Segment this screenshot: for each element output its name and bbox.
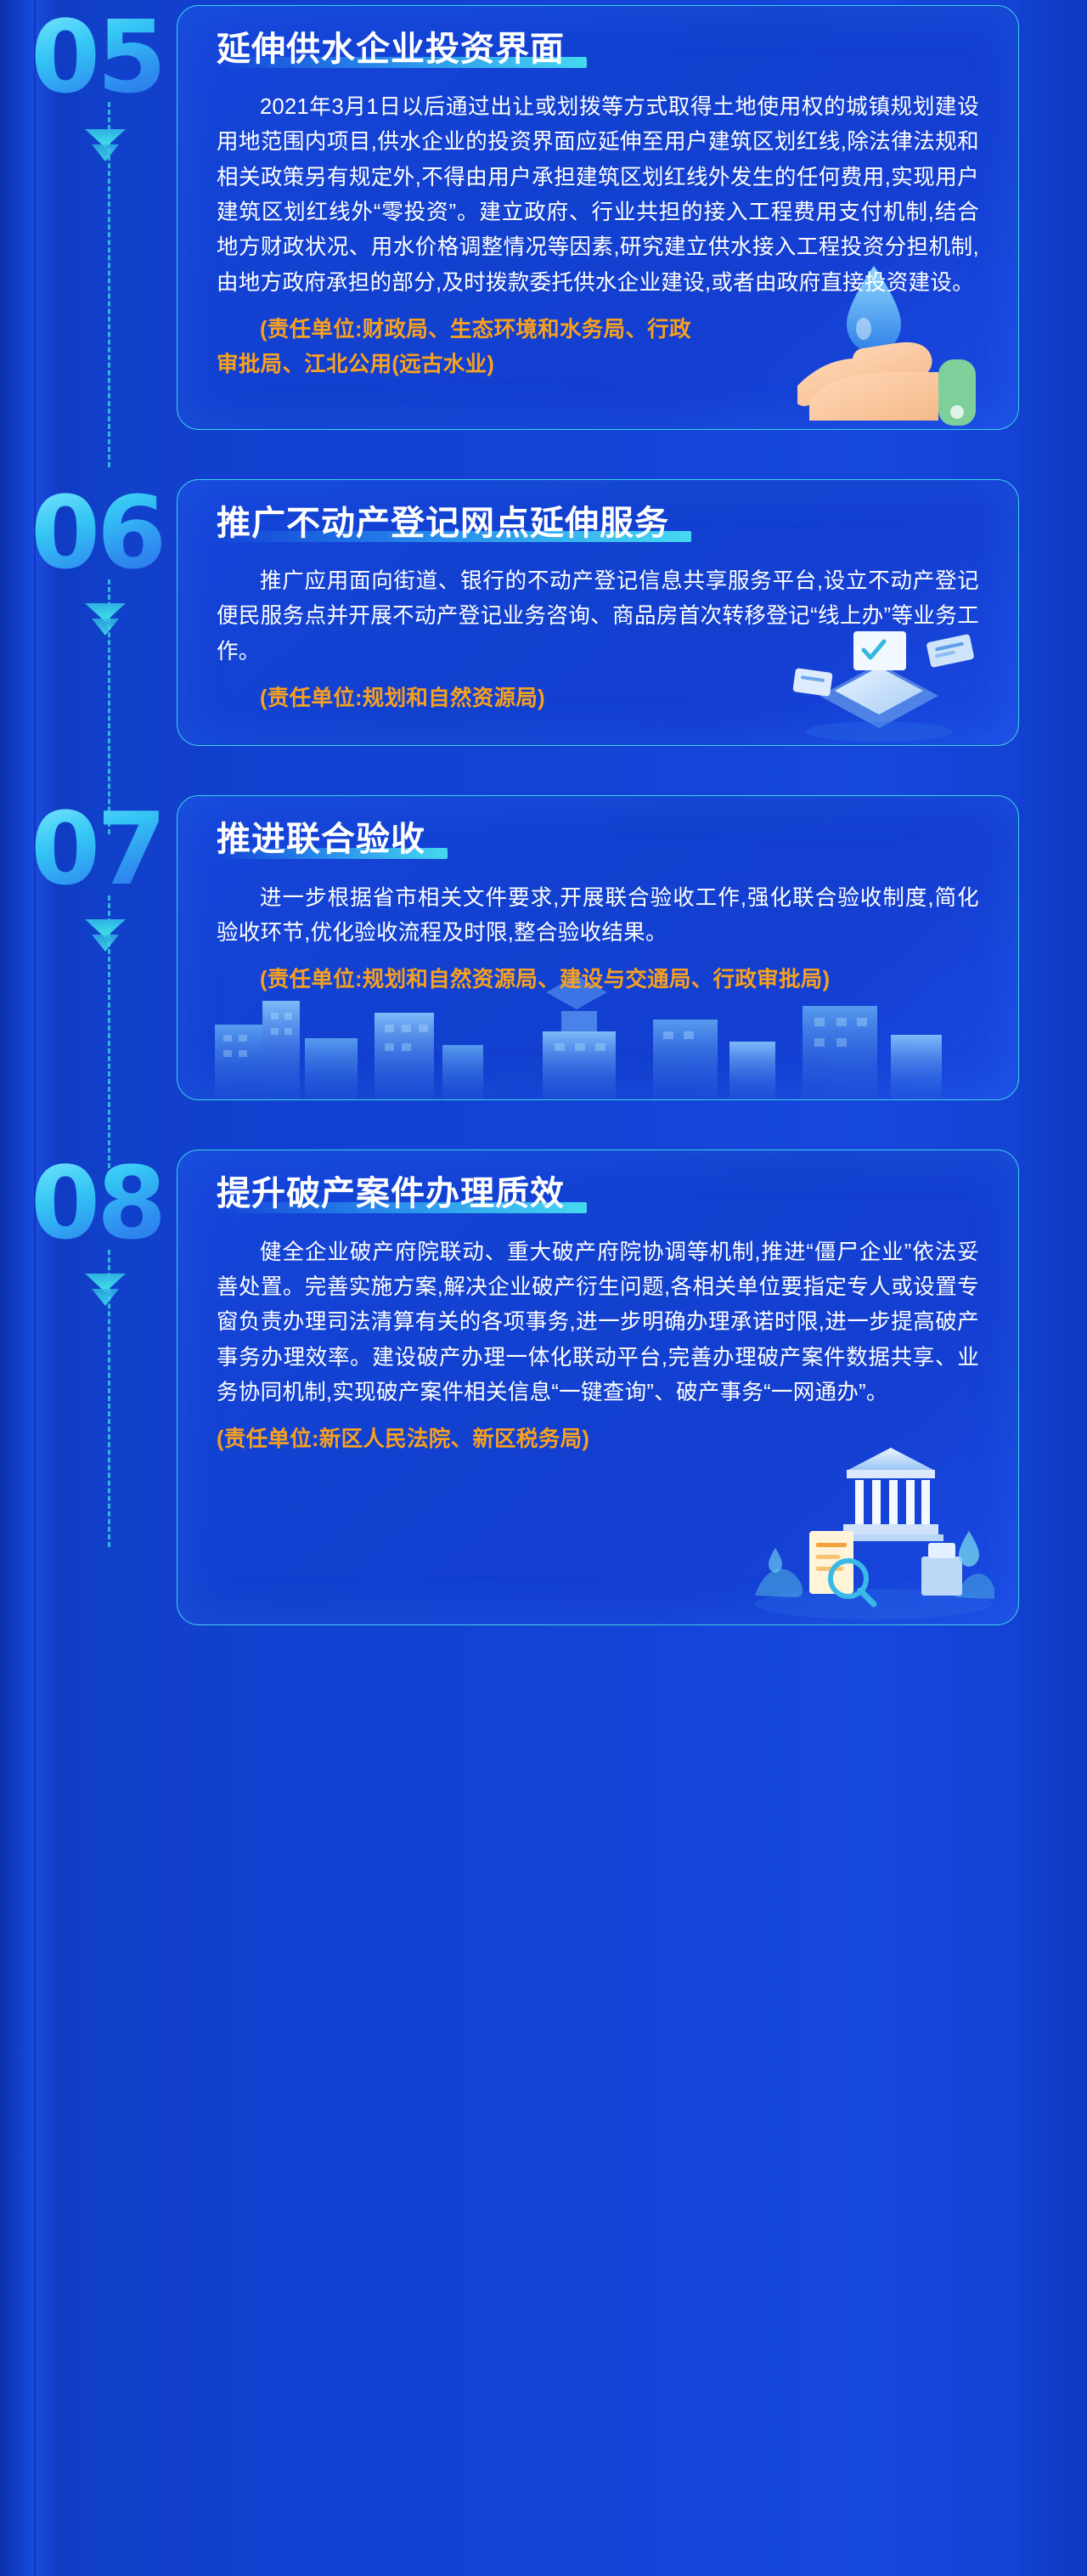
spacer-05-06: [0, 430, 1087, 479]
section-number-06: 06: [31, 483, 163, 583]
card-body-07: 进一步根据省市相关文件要求,开展联合验收工作,强化联合验收制度,简化验收环节,优…: [217, 881, 979, 952]
card-responsible-07: (责任单位:规划和自然资源局、建设与交通局、行政审批局): [217, 963, 981, 997]
chevron-down-icon-08: [82, 1270, 129, 1311]
chevron-down-icon-06: [82, 600, 129, 641]
card-title-07: 推进联合验收: [217, 818, 425, 861]
spacer-06-07: [0, 746, 1087, 795]
card-title-wrap-06: 推广不动产登记网点延伸服务: [217, 502, 669, 545]
courthouse-illustration: [721, 1429, 1001, 1624]
chevron-down-icon-07: [82, 916, 129, 957]
card-07[interactable]: 推进联合验收 进一步根据省市相关文件要求,开展联合验收工作,强化联合验收制度,简…: [177, 795, 1019, 1100]
section-06: 06: [0, 479, 1087, 746]
spacer-07-08: [0, 1100, 1087, 1150]
card-body-text-06: 推广应用面向街道、银行的不动产登记信息共享服务平台,设立不动产登记便民服务点并开…: [217, 564, 979, 669]
card-body-05: 2021年3月1日以后通过出让或划拨等方式取得土地使用权的城镇规划建设用地范围内…: [217, 90, 979, 301]
card-body-08: 健全企业破产府院联动、重大破产府院协调等机制,推进“僵尸企业”依法妥善处置。完善…: [217, 1235, 979, 1410]
card-title-wrap-05: 延伸供水企业投资界面: [217, 28, 565, 71]
card-responsible-08: (责任单位:新区人民法院、新区税务局): [217, 1422, 743, 1457]
section-number-08: 08: [31, 1153, 163, 1253]
card-body-text-08: 健全企业破产府院联动、重大破产府院协调等机制,推进“僵尸企业”依法妥善处置。完善…: [217, 1235, 979, 1410]
card-title-wrap-07: 推进联合验收: [217, 818, 425, 861]
section-08: 08: [0, 1150, 1087, 1625]
card-body-text-07: 进一步根据省市相关文件要求,开展联合验收工作,强化联合验收制度,简化验收环节,优…: [217, 881, 979, 952]
chevron-down-icon-05: [82, 126, 129, 167]
card-body-06: 推广应用面向街道、银行的不动产登记信息共享服务平台,设立不动产登记便民服务点并开…: [217, 564, 979, 669]
card-title-wrap-08: 提升破产案件办理质效: [217, 1172, 565, 1216]
card-body-text-05: 2021年3月1日以后通过出让或划拨等方式取得土地使用权的城镇规划建设用地范围内…: [217, 90, 979, 301]
card-05[interactable]: 延伸供水企业投资界面 2021年3月1日以后通过出让或划拨等方式取得土地使用权的…: [177, 5, 1019, 430]
section-05: 05: [0, 0, 1087, 430]
card-responsible-06: (责任单位:规划和自然资源局): [217, 681, 743, 716]
card-title-05: 延伸供水企业投资界面: [217, 28, 565, 71]
card-08[interactable]: 提升破产案件办理质效 健全企业破产府院联动、重大破产府院协调等机制,推进“僵尸企…: [177, 1150, 1019, 1625]
section-07: 07: [0, 795, 1087, 1100]
card-responsible-05: (责任单位:财政局、生态环境和水务局、行政审批局、江北公用(远古水业): [217, 313, 692, 383]
card-title-08: 提升破产案件办理质效: [217, 1172, 565, 1216]
section-number-05: 05: [31, 7, 163, 107]
infographic-page: 05: [0, 0, 1087, 2576]
section-number-07: 07: [31, 799, 163, 899]
card-06[interactable]: 推广不动产登记网点延伸服务 推广应用面向街道、银行的不动产登记信息共享服务平台,…: [177, 479, 1019, 746]
card-title-06: 推广不动产登记网点延伸服务: [217, 502, 669, 545]
